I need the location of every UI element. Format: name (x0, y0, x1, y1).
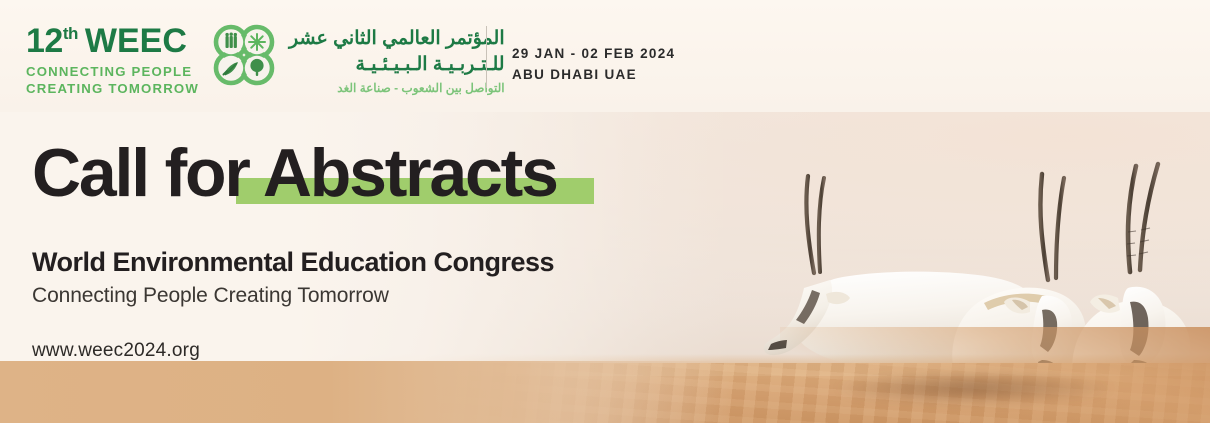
weec-emblem (211, 22, 277, 88)
congress-name: World Environmental Education Congress (32, 247, 554, 278)
arabic-title-line1: المؤتمر العالمي الثاني عشر (289, 26, 505, 52)
edition-suffix: th (63, 25, 78, 42)
event-dates: 29 JAN - 02 FEB 2024 (512, 44, 675, 65)
arabic-subtitle: التواصل بين الشعوب - صناعة الغد (289, 80, 505, 97)
weec-tagline-line2: CREATING TOMORROW (26, 81, 199, 98)
headline-highlight-word: Abstracts (263, 135, 557, 211)
headline-wrapper: Call for Abstracts (32, 139, 557, 207)
main-text-block: Call for Abstracts World Environmental E… (0, 112, 740, 423)
website-url[interactable]: www.weec2024.org (32, 340, 200, 362)
weec-call-for-abstracts-banner: 12thWEEC CONNECTING PEOPLE CREATING TOMO… (0, 0, 1210, 423)
headline-part1: Call for (32, 135, 263, 211)
edition-number: 12 (26, 24, 63, 58)
congress-slogan: Connecting People Creating Tomorrow (32, 284, 389, 308)
event-details: 29 JAN - 02 FEB 2024 ABU DHABI UAE (512, 44, 675, 86)
weec-title-line: 12thWEEC (26, 24, 199, 58)
arabic-title-line2: للـتـربـيـة الـبـيـئـيـة (289, 52, 505, 78)
weec-wordmark: 12thWEEC CONNECTING PEOPLE CREATING TOMO… (26, 22, 199, 97)
page-title: Call for Abstracts (32, 139, 557, 207)
flower-icon (249, 34, 265, 50)
header-divider (486, 26, 487, 88)
books-icon (225, 33, 237, 49)
arabic-title-block: المؤتمر العالمي الثاني عشر للـتـربـيـة ا… (289, 22, 505, 97)
weec-tagline-line1: CONNECTING PEOPLE (26, 64, 199, 81)
event-location: ABU DHABI UAE (512, 65, 675, 86)
header-logo-row: 12thWEEC CONNECTING PEOPLE CREATING TOMO… (26, 22, 505, 97)
oryx-cast-shadow (840, 365, 1170, 411)
weec-tagline: CONNECTING PEOPLE CREATING TOMORROW (26, 64, 199, 97)
weec-acronym: WEEC (85, 24, 187, 58)
header-band: 12thWEEC CONNECTING PEOPLE CREATING TOMO… (0, 0, 1210, 112)
